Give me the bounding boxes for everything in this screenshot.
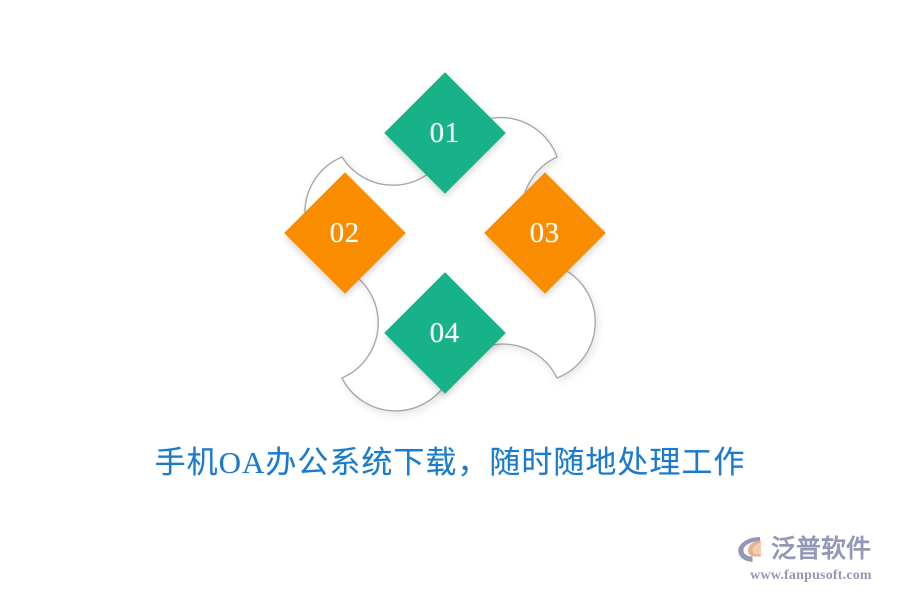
watermark: 泛普软件 www.fanpusoft.com (736, 532, 886, 590)
diagram-node-01-label: 01 (430, 119, 460, 148)
diagram-node-03-label: 03 (530, 219, 560, 248)
watermark-url-text: www.fanpusoft.com (736, 568, 886, 584)
watermark-brand-row: 泛普软件 (736, 532, 886, 566)
infographic-page: { "page": { "background_color": "#ffffff… (0, 0, 900, 600)
diagram-node-02-label: 02 (330, 219, 360, 248)
fanpu-logo-icon (736, 534, 766, 564)
page-title: 手机OA办公系统下载，随时随地处理工作 (0, 437, 900, 482)
diagram-node-04-label: 04 (430, 319, 460, 348)
infographic-stage: 01 02 03 04 手机OA办公系统下载，随时随地处理工作 泛普软件 www… (0, 0, 900, 600)
watermark-brand-text: 泛普软件 (771, 537, 871, 562)
four-petal-diamond-diagram: 01 02 03 04 (270, 95, 630, 440)
